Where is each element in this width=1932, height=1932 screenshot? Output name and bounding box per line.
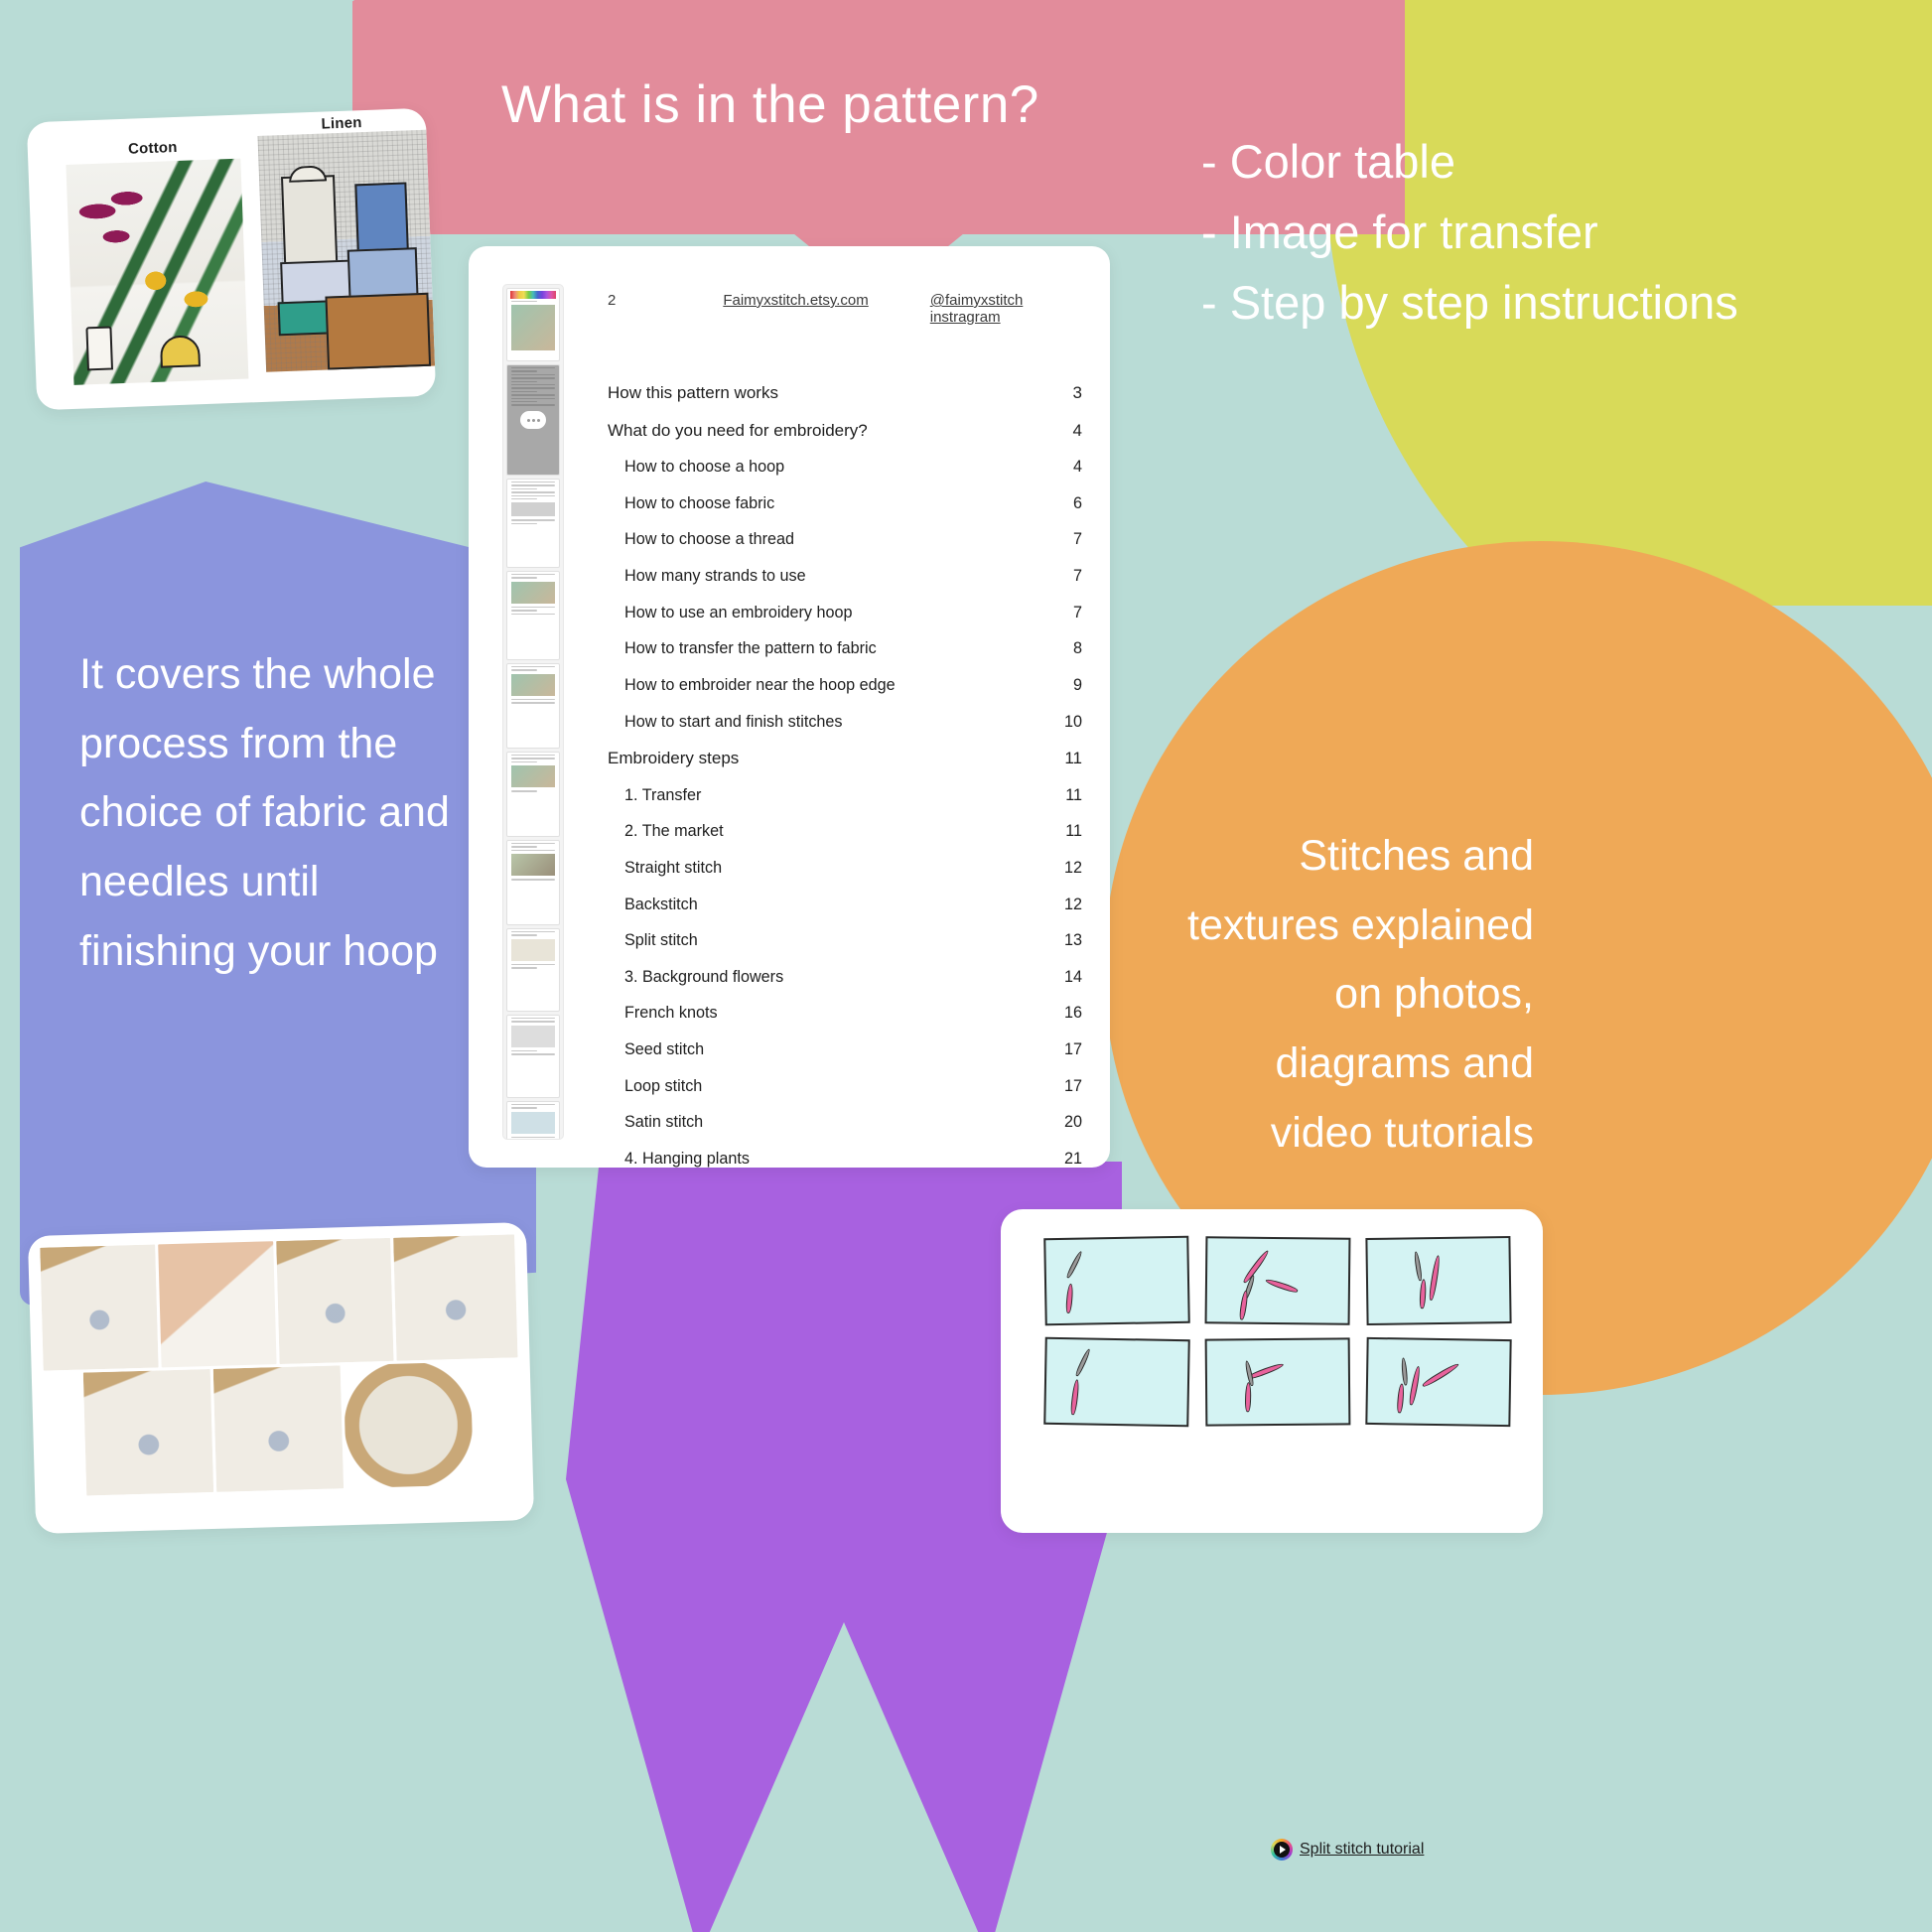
toc-row[interactable]: 4. Hanging plants21 (608, 1150, 1082, 1168)
toc-entry-page: 11 (1029, 822, 1082, 841)
needle-icon (1065, 1250, 1083, 1279)
page-thumbnail-selected[interactable] (506, 364, 560, 476)
toc-row[interactable]: Straight stitch12 (608, 859, 1082, 878)
toc-entry-page: 9 (1029, 676, 1082, 695)
toc-entry-page: 16 (1029, 1004, 1082, 1023)
process-photo (213, 1365, 344, 1492)
toc-row[interactable]: 1. Transfer11 (608, 786, 1082, 805)
page-thumbnail[interactable] (506, 571, 560, 660)
toc-row[interactable]: What do you need for embroidery?4 (608, 421, 1082, 441)
yellow-callout-line-3: - Step by step instructions (1201, 268, 1896, 339)
split-stitch-tutorial-link[interactable]: Split stitch tutorial (1271, 1839, 1424, 1861)
document-preview-card: 2 Faimyxstitch.etsy.com @faimyxstitch in… (469, 246, 1110, 1168)
toc-entry-page: 12 (1029, 896, 1082, 914)
toc-entry-page: 14 (1029, 968, 1082, 987)
page-thumbnail[interactable] (506, 928, 560, 1012)
stitch-diagram-cell (1043, 1337, 1190, 1428)
toc-entry-title: French knots (608, 1004, 1029, 1023)
toc-entry-page: 7 (1029, 604, 1082, 622)
toc-row[interactable]: Embroidery steps11 (608, 749, 1082, 768)
toc-row[interactable]: How to choose a thread7 (608, 530, 1082, 549)
toc-entry-page: 12 (1029, 859, 1082, 878)
toc-row[interactable]: Satin stitch20 (608, 1113, 1082, 1132)
process-photo (40, 1244, 158, 1370)
toc-entry-page: 21 (1029, 1150, 1082, 1168)
fabric-comparison-card: Cotton Linen (27, 108, 436, 411)
toc-entry-page: 3 (1029, 383, 1082, 403)
stitch-diagram-cell (1365, 1337, 1511, 1427)
page-thumbnail[interactable] (506, 1101, 560, 1140)
toc-row[interactable]: Backstitch12 (608, 896, 1082, 914)
page-thumbnail[interactable] (506, 288, 560, 361)
page-title: What is in the pattern? (501, 77, 1137, 133)
table-of-contents: How this pattern works3What do you need … (608, 383, 1082, 1168)
process-photo (276, 1238, 394, 1364)
cotton-label: Cotton (83, 137, 223, 159)
page-thumbnail-strip[interactable] (502, 284, 564, 1140)
more-pages-icon (520, 411, 546, 429)
stitch-diagram-grid (1044, 1237, 1511, 1426)
toc-entry-title: How to start and finish stitches (608, 713, 1029, 732)
process-photo (158, 1241, 276, 1367)
stitch-diagram-cell (1205, 1337, 1351, 1426)
page-thumbnail[interactable] (506, 479, 560, 568)
needle-icon (1401, 1357, 1408, 1385)
needle-icon (1414, 1251, 1424, 1281)
tutorial-link-label[interactable]: Split stitch tutorial (1300, 1841, 1424, 1859)
toc-entry-title: Loop stitch (608, 1077, 1029, 1096)
etsy-shop-link[interactable]: Faimyxstitch.etsy.com (723, 292, 868, 309)
yellow-callout-line-2: - Image for transfer (1201, 198, 1896, 268)
toc-row[interactable]: Loop stitch17 (608, 1077, 1082, 1096)
toc-entry-title: 4. Hanging plants (608, 1150, 1029, 1168)
process-photo (83, 1369, 213, 1496)
linen-sample-photo (257, 130, 435, 372)
page-thumbnail[interactable] (506, 840, 560, 925)
toc-entry-title: How to choose a thread (608, 530, 1029, 549)
toc-entry-title: How to choose fabric (608, 494, 1029, 513)
toc-row[interactable]: How to choose a hoop4 (608, 458, 1082, 477)
stitch-diagram-cell (1043, 1236, 1190, 1326)
toc-entry-title: How to choose a hoop (608, 458, 1029, 477)
toc-row[interactable]: 2. The market11 (608, 822, 1082, 841)
document-header: 2 Faimyxstitch.etsy.com @faimyxstitch in… (608, 292, 1082, 326)
toc-row[interactable]: French knots16 (608, 1004, 1082, 1023)
poster-canvas: What is in the pattern? - Color table - … (0, 0, 1932, 1932)
toc-entry-title: Straight stitch (608, 859, 1029, 878)
toc-row[interactable]: How to embroider near the hoop edge9 (608, 676, 1082, 695)
toc-entry-page: 7 (1029, 567, 1082, 586)
toc-row[interactable]: Seed stitch17 (608, 1040, 1082, 1059)
finished-hoop-photo (344, 1362, 474, 1489)
document-page-content: 2 Faimyxstitch.etsy.com @faimyxstitch in… (608, 292, 1082, 1168)
thread-stitch-icon (1419, 1279, 1427, 1309)
page-thumbnail[interactable] (506, 1015, 560, 1098)
play-triangle-icon (1280, 1846, 1286, 1854)
toc-entry-page: 13 (1029, 931, 1082, 950)
photo-row (40, 1234, 517, 1370)
yellow-callout-text: - Color table - Image for transfer - Ste… (1201, 127, 1896, 339)
thread-stitch-icon (1428, 1255, 1441, 1301)
toc-row[interactable]: How to use an embroidery hoop7 (608, 604, 1082, 622)
thread-stitch-icon (1265, 1278, 1299, 1295)
toc-entry-title: Embroidery steps (608, 749, 1029, 768)
toc-row[interactable]: How to transfer the pattern to fabric8 (608, 639, 1082, 658)
blue-callout-text: It covers the whole process from the cho… (79, 640, 477, 986)
toc-row[interactable]: How to choose fabric6 (608, 494, 1082, 513)
toc-entry-title: Backstitch (608, 896, 1029, 914)
thread-stitch-icon (1065, 1284, 1074, 1313)
photo-row (83, 1360, 521, 1495)
toc-entry-page: 11 (1029, 749, 1082, 768)
toc-entry-title: How to transfer the pattern to fabric (608, 639, 1029, 658)
page-thumbnail[interactable] (506, 663, 560, 749)
toc-entry-page: 4 (1029, 458, 1082, 477)
stitch-diagram-cell (1365, 1236, 1511, 1325)
page-number: 2 (608, 292, 723, 309)
thread-stitch-icon (1408, 1365, 1421, 1405)
toc-entry-page: 10 (1029, 713, 1082, 732)
orange-callout-text: Stitches and textures explained on photo… (1176, 822, 1534, 1168)
toc-row[interactable]: Split stitch13 (608, 931, 1082, 950)
toc-entry-title: 1. Transfer (608, 786, 1029, 805)
toc-entry-page: 7 (1029, 530, 1082, 549)
toc-row[interactable]: How many strands to use7 (608, 567, 1082, 586)
thread-stitch-icon (1239, 1290, 1249, 1320)
stitch-diagram-cell (1205, 1236, 1351, 1325)
toc-entry-page: 8 (1029, 639, 1082, 658)
toc-entry-title: How to use an embroidery hoop (608, 604, 1029, 622)
thread-stitch-icon (1070, 1379, 1080, 1415)
toc-entry-title: 2. The market (608, 822, 1029, 841)
toc-entry-page: 6 (1029, 494, 1082, 513)
toc-entry-title: Satin stitch (608, 1113, 1029, 1132)
thread-stitch-icon (1396, 1383, 1405, 1413)
toc-entry-page: 11 (1029, 786, 1082, 805)
toc-entry-title: How this pattern works (608, 383, 1029, 403)
toc-entry-title: Split stitch (608, 931, 1029, 950)
toc-entry-title: How many strands to use (608, 567, 1029, 586)
thread-stitch-icon (1245, 1382, 1252, 1412)
process-photo (393, 1234, 517, 1360)
toc-row[interactable]: How to start and finish stitches10 (608, 713, 1082, 732)
toc-row[interactable]: How this pattern works3 (608, 383, 1082, 403)
toc-entry-page: 4 (1029, 421, 1082, 441)
toc-row[interactable]: 3. Background flowers14 (608, 968, 1082, 987)
toc-entry-page: 17 (1029, 1040, 1082, 1059)
toc-entry-title: What do you need for embroidery? (608, 421, 1029, 441)
page-thumbnail[interactable] (506, 752, 560, 837)
yellow-callout-line-1: - Color table (1201, 127, 1896, 198)
toc-entry-page: 20 (1029, 1113, 1082, 1132)
cotton-sample-photo (66, 159, 248, 385)
toc-entry-title: How to embroider near the hoop edge (608, 676, 1029, 695)
toc-entry-page: 17 (1029, 1077, 1082, 1096)
needle-icon (1074, 1348, 1091, 1377)
instagram-link[interactable]: @faimyxstitch instragram (930, 292, 1082, 326)
process-photos-card (28, 1222, 534, 1534)
thread-stitch-icon (1422, 1362, 1460, 1389)
toc-entry-title: 3. Background flowers (608, 968, 1029, 987)
toc-entry-title: Seed stitch (608, 1040, 1029, 1059)
